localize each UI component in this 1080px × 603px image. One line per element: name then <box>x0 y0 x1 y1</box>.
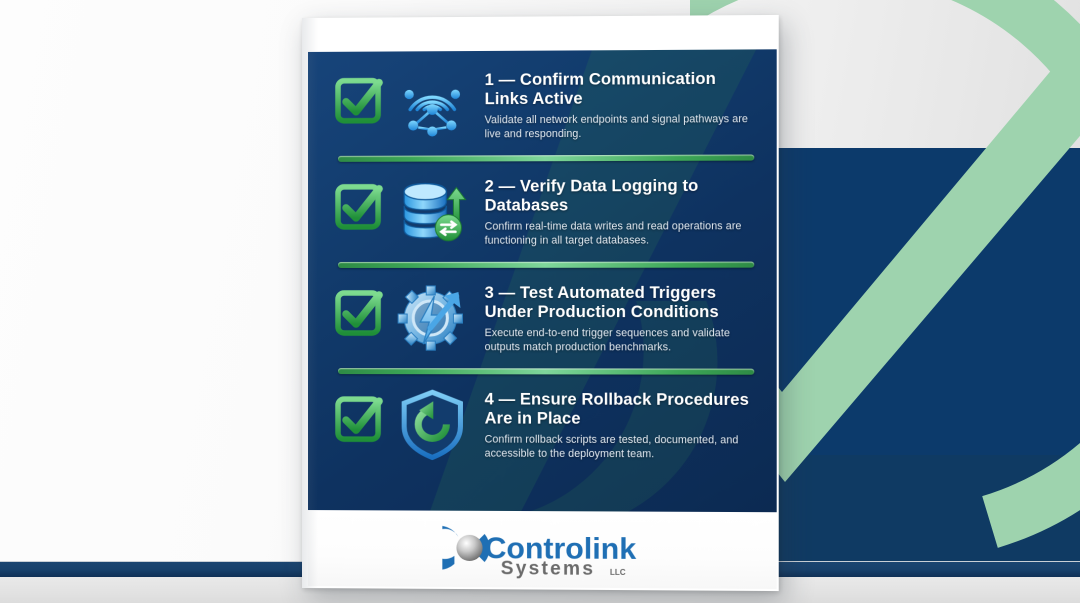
checklist-desc: Execute end-to-end trigger sequences and… <box>485 327 757 355</box>
green-checkbox-icon <box>334 288 384 338</box>
checklist-row[interactable]: 4 — Ensure Rollback Procedures Are in Pl… <box>308 376 777 474</box>
poster-scene: 1 — Confirm Communication Links Active V… <box>0 0 1080 603</box>
row-divider <box>338 368 754 375</box>
checklist-row[interactable]: 2 — Verify Data Logging to Databases Con… <box>308 163 777 260</box>
controlink-logo: Controlink Systems LLC <box>442 520 640 579</box>
database-sync-icon <box>396 176 468 248</box>
poster-footer: Controlink Systems LLC <box>308 510 777 589</box>
poster-navy-panel: 1 — Confirm Communication Links Active V… <box>308 49 777 512</box>
row-divider <box>338 262 754 268</box>
logo-brand-secondary: Systems <box>501 558 596 579</box>
checklist-row[interactable]: 3 — Test Automated Triggers Under Produc… <box>308 270 777 367</box>
row-divider <box>338 154 754 161</box>
checklist-desc: Confirm real-time data writes and read o… <box>485 220 757 248</box>
checklist-title: 3 — Test Automated Triggers Under Produc… <box>485 284 757 322</box>
green-checkbox-icon <box>334 76 384 126</box>
checklist-row[interactable]: 1 — Confirm Communication Links Active V… <box>308 55 777 154</box>
checklist-poster: 1 — Confirm Communication Links Active V… <box>302 15 779 591</box>
shield-rollback-icon <box>396 388 468 460</box>
checklist-title: 1 — Confirm Communication Links Active <box>485 70 757 110</box>
checklist-title: 2 — Verify Data Logging to Databases <box>485 177 757 216</box>
gear-lightning-arrow-icon <box>396 282 468 354</box>
green-checkbox-icon <box>334 394 384 444</box>
network-signal-icon <box>396 69 468 142</box>
checklist-desc: Confirm rollback scripts are tested, doc… <box>485 434 757 463</box>
checklist-desc: Validate all network endpoints and signa… <box>485 113 757 142</box>
checklist-title: 4 — Ensure Rollback Procedures Are in Pl… <box>485 390 757 429</box>
green-checkbox-icon <box>334 182 384 232</box>
logo-brand-suffix: LLC <box>610 568 626 577</box>
checklist-rows: 1 — Confirm Communication Links Active V… <box>308 49 777 474</box>
wall-navy-block-lower <box>765 455 1080 561</box>
